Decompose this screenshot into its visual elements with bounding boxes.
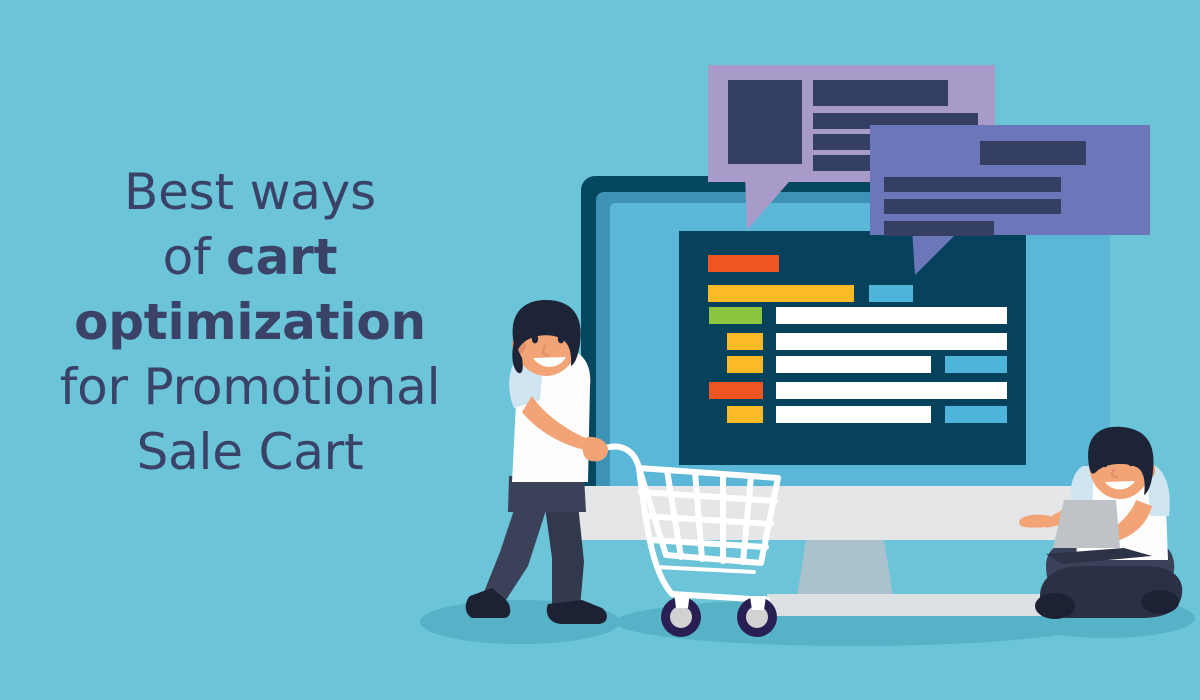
cart-wheel-left-hub [670,606,692,628]
screen-bar-white-2 [776,333,1007,350]
man-eye-right [558,335,564,344]
screen-bar-yellow-1 [708,285,854,302]
screen-bar-yellow-2 [727,333,763,350]
cart-wheel-fork-left [674,592,690,608]
headline-line-4: for Promotional [20,355,480,420]
page-title: Best ways of cart optimization for Promo… [20,160,480,485]
screen-bar-yellow-3 [727,356,763,373]
screen-bar-cyan-3 [945,406,1007,423]
promo-banner: Best ways of cart optimization for Promo… [0,0,1200,700]
headline-line-1: Best ways [20,160,480,225]
screen-bar-white-3 [776,356,931,373]
bubble-text-line [884,199,1061,214]
cart-wheel-fork-right [750,596,766,610]
headline-segment: for Promotional [60,358,441,416]
seated-eye-right [1128,458,1134,466]
seated-foot-right [1141,590,1179,614]
bubble-text-line [813,80,948,106]
headline-segment: Best ways [124,163,376,221]
headline-line-3: optimization [20,290,480,355]
headline-segment-bold: optimization [74,293,426,351]
screen-bar-red-1 [708,255,779,272]
screen-bar-red-2 [709,382,763,399]
screen-bar-green-1 [709,307,762,324]
screen-bar-yellow-4 [727,406,763,423]
bubble-text-line [980,141,1086,165]
headline-segment: of [163,228,227,286]
screen-bar-cyan-1 [869,285,913,302]
seated-eye-left [1102,459,1108,467]
screen-bar-cyan-2 [945,356,1007,373]
headline-segment: Sale Cart [137,423,364,481]
seated-foot-left [1035,593,1075,619]
laptop-screen [1053,500,1120,548]
screen-bar-white-4 [776,382,1007,399]
headline-segment-bold: cart [226,228,337,286]
bubble-text-line [884,177,1061,192]
headline-line-2: of cart [20,225,480,290]
monitor-stand-neck [797,540,893,596]
headline-line-5: Sale Cart [20,420,480,485]
man-eye-left [532,335,538,344]
screen-bar-white-5 [776,406,931,423]
bubble-text-line [884,221,994,236]
screen-bar-white-1 [776,307,1007,324]
bubble-thumbnail [728,80,802,164]
